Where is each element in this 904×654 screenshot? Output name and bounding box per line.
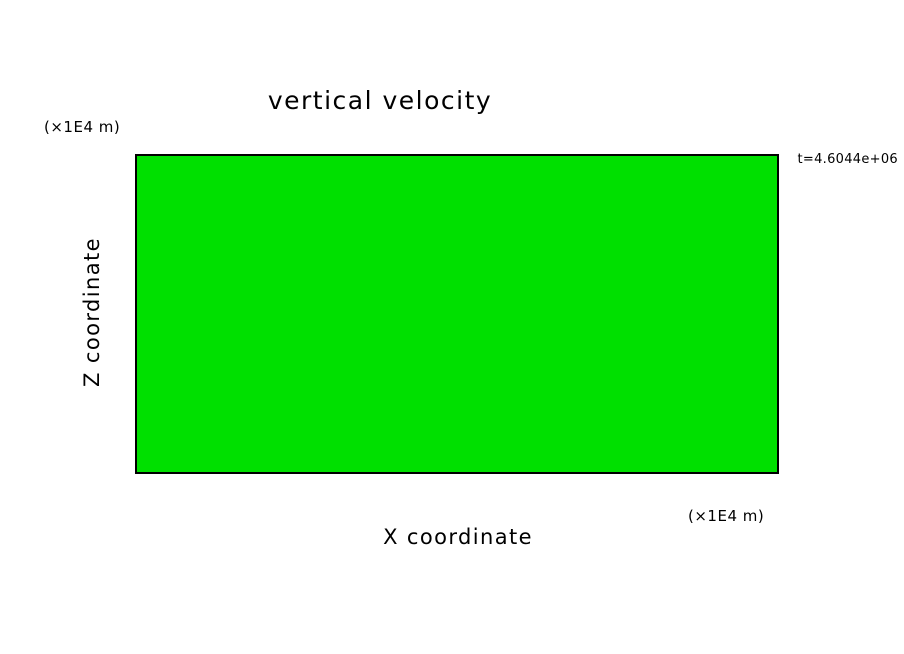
- x-axis-unit-label: (×1E4 m): [688, 507, 764, 525]
- contour-plot-area[interactable]: [135, 154, 779, 474]
- timestamp-label: t=4.6044e+06: [797, 152, 898, 167]
- page-title: vertical velocity: [0, 86, 760, 115]
- x-axis-title: X coordinate: [258, 525, 658, 549]
- z-axis-unit-label: (×1E4 m): [44, 118, 120, 136]
- colorbar-gradient: [780, 206, 806, 506]
- figure-root: vertical velocity (×1E4 m) (×1E4 m) t=4.…: [0, 0, 904, 654]
- colorbar[interactable]: [780, 206, 806, 506]
- z-axis-title: Z coordinate: [80, 212, 104, 412]
- vertical-velocity-field: [137, 156, 777, 472]
